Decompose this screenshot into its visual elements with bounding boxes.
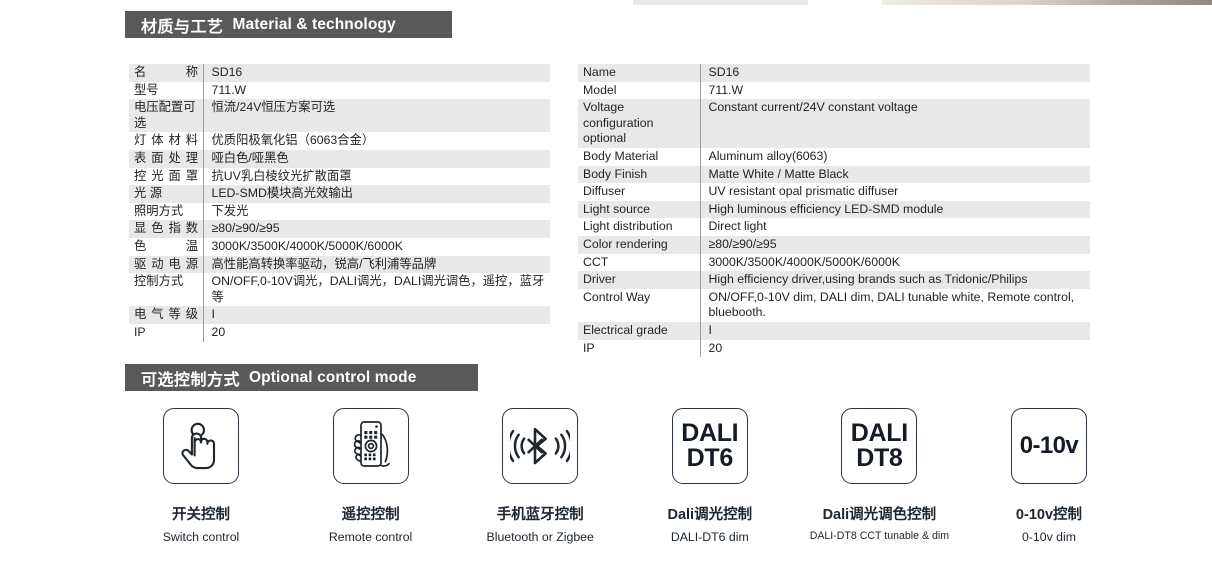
control-mode-label-cn: 开关控制 <box>172 503 230 524</box>
spec-key: Light distribution <box>578 218 700 236</box>
spec-key: 照明方式 <box>129 203 203 221</box>
table-row: Light distributionDirect light <box>578 218 1090 236</box>
spec-value: 20 <box>203 324 550 342</box>
table-row: 控 光 面 罩抗UV乳白棱纹光扩散面罩 <box>129 168 550 186</box>
dali-dt8-icon: DALIDT8 <box>851 421 908 471</box>
control-mode-label-en: Bluetooth or Zigbee <box>487 530 594 544</box>
spec-key: 表 面 处 理 <box>129 150 203 168</box>
spec-key: Name <box>578 64 700 82</box>
spec-value: 优质阳极氧化铝（6063合金） <box>203 132 550 150</box>
spec-key: Control Way <box>578 289 700 322</box>
section-header-control-en: Optional control mode <box>249 369 416 387</box>
control-mode-label-cn: Dali调光调色控制 <box>823 503 937 524</box>
spec-value: Aluminum alloy(6063) <box>700 148 1090 166</box>
table-row: Body FinishMatte White / Matte Black <box>578 166 1090 184</box>
control-mode-label-cn: 0-10v控制 <box>1016 503 1082 524</box>
remote-control-icon-box <box>333 408 409 484</box>
spec-key: 型号 <box>129 82 203 100</box>
spec-key: 控制方式 <box>129 273 203 306</box>
control-mode-label-en: Remote control <box>329 530 412 544</box>
bluetooth-wireless-icon-box <box>502 408 578 484</box>
spec-value: I <box>203 306 550 324</box>
spec-value: 3000K/3500K/4000K/5000K/6000K <box>203 238 550 256</box>
table-row: IP20 <box>129 324 550 342</box>
table-row: IP20 <box>578 340 1090 358</box>
control-mode-label-cn: 遥控控制 <box>342 503 400 524</box>
zero-to-ten-volt-icon: 0-10v <box>1020 432 1078 460</box>
spec-value: 20 <box>700 340 1090 358</box>
section-header-material-en: Material & technology <box>233 16 396 34</box>
spec-key: Color rendering <box>578 236 700 254</box>
spec-key: Body Material <box>578 148 700 166</box>
control-mode-list: 开关控制 Switch control <box>125 408 1125 544</box>
table-row: 型号711.W <box>129 82 550 100</box>
section-header-control: 可选控制方式 Optional control mode <box>125 364 478 391</box>
spec-value: ≥80/≥90/≥95 <box>700 236 1090 254</box>
spec-value: 抗UV乳白棱纹光扩散面罩 <box>203 168 550 186</box>
spec-value: Constant current/24V constant voltage <box>700 99 1090 148</box>
table-row: 驱 动 电 源高性能高转换率驱动，锐高/飞利浦等品牌 <box>129 256 550 274</box>
table-row: CCT3000K/3500K/4000K/5000K/6000K <box>578 254 1090 272</box>
control-mode-0-10v[interactable]: 0-10v 0-10v控制 0-10v dim <box>973 408 1125 544</box>
spec-value: 下发光 <box>203 203 550 221</box>
table-row: Light sourceHigh luminous efficiency LED… <box>578 201 1090 219</box>
spec-value: UV resistant opal prismatic diffuser <box>700 183 1090 201</box>
spec-value: ON/OFF,0-10V调光，DALI调光，DALI调光调色，遥控，蓝牙等 <box>203 273 550 306</box>
spec-value: High luminous efficiency LED-SMD module <box>700 201 1090 219</box>
table-row: 光 源LED-SMD模块高光效输出 <box>129 185 550 203</box>
spec-value: 711.W <box>203 82 550 100</box>
spec-table-chinese: 名 称SD16 型号711.W 电压配置可选恒流/24V恒压方案可选 灯 体 材… <box>129 64 550 342</box>
spec-value: SD16 <box>203 64 550 82</box>
control-mode-label-cn: 手机蓝牙控制 <box>497 503 584 524</box>
spec-table-english: NameSD16 Model711.W Voltage configuratio… <box>578 64 1090 357</box>
top-edge-strip-left <box>633 0 808 5</box>
spec-value: I <box>700 322 1090 340</box>
spec-value: Direct light <box>700 218 1090 236</box>
spec-key: 电 气 等 级 <box>129 306 203 324</box>
table-row: 名 称SD16 <box>129 64 550 82</box>
table-row: 控制方式ON/OFF,0-10V调光，DALI调光，DALI调光调色，遥控，蓝牙… <box>129 273 550 306</box>
table-row: Model711.W <box>578 82 1090 100</box>
spec-key: CCT <box>578 254 700 272</box>
spec-value: Matte White / Matte Black <box>700 166 1090 184</box>
spec-key: 灯 体 材 料 <box>129 132 203 150</box>
table-row: DiffuserUV resistant opal prismatic diff… <box>578 183 1090 201</box>
section-header-material-cn: 材质与工艺 <box>141 13 224 37</box>
spec-value: LED-SMD模块高光效输出 <box>203 185 550 203</box>
control-mode-label-en: 0-10v dim <box>1022 530 1076 544</box>
table-row: 显 色 指 数≥80/≥90/≥95 <box>129 220 550 238</box>
section-header-material: 材质与工艺 Material & technology <box>125 11 452 38</box>
section-header-control-cn: 可选控制方式 <box>141 366 240 390</box>
spec-key: 控 光 面 罩 <box>129 168 203 186</box>
table-row: 表 面 处 理哑白色/哑黑色 <box>129 150 550 168</box>
bluetooth-wireless-icon <box>510 425 570 467</box>
spec-key: 名 称 <box>129 64 203 82</box>
spec-value: 3000K/3500K/4000K/5000K/6000K <box>700 254 1090 272</box>
spec-key: IP <box>578 340 700 358</box>
spec-value: ≥80/≥90/≥95 <box>203 220 550 238</box>
table-row: 灯 体 材 料优质阳极氧化铝（6063合金） <box>129 132 550 150</box>
control-mode-switch[interactable]: 开关控制 Switch control <box>125 408 277 544</box>
hand-tap-icon <box>177 421 225 471</box>
table-row: Voltage configuration optionalConstant c… <box>578 99 1090 148</box>
table-row: NameSD16 <box>578 64 1090 82</box>
table-row: Color rendering≥80/≥90/≥95 <box>578 236 1090 254</box>
spec-key: Electrical grade <box>578 322 700 340</box>
spec-value: High efficiency driver,using brands such… <box>700 271 1090 289</box>
spec-key: Body Finish <box>578 166 700 184</box>
table-row: 电 气 等 级I <box>129 306 550 324</box>
spec-key: 电压配置可选 <box>129 99 203 132</box>
control-mode-dali-dt6[interactable]: DALIDT6 Dali调光控制 DALI-DT6 dim <box>634 408 786 544</box>
spec-key: 驱 动 电 源 <box>129 256 203 274</box>
dali-dt6-icon-box: DALIDT6 <box>672 408 748 484</box>
spec-key: Driver <box>578 271 700 289</box>
spec-key: 显 色 指 数 <box>129 220 203 238</box>
spec-value: SD16 <box>700 64 1090 82</box>
control-mode-bluetooth[interactable]: 手机蓝牙控制 Bluetooth or Zigbee <box>464 408 616 544</box>
spec-key: 光 源 <box>129 185 203 203</box>
spec-key: 色 温 <box>129 238 203 256</box>
table-row: Electrical gradeI <box>578 322 1090 340</box>
spec-value: 哑白色/哑黑色 <box>203 150 550 168</box>
zero-to-ten-volt-icon-box: 0-10v <box>1011 408 1087 484</box>
spec-value: 恒流/24V恒压方案可选 <box>203 99 550 132</box>
table-row: Body MaterialAluminum alloy(6063) <box>578 148 1090 166</box>
table-row: Control WayON/OFF,0-10V dim, DALI dim, D… <box>578 289 1090 322</box>
control-mode-label-en: DALI-DT8 CCT tunable & dim <box>810 530 949 542</box>
control-mode-label-en: DALI-DT6 dim <box>671 530 749 544</box>
spec-key: Voltage configuration optional <box>578 99 700 148</box>
control-mode-label-cn: Dali调光控制 <box>667 503 752 524</box>
spec-value: 711.W <box>700 82 1090 100</box>
table-row: 照明方式下发光 <box>129 203 550 221</box>
spec-table-chinese-body: 名 称SD16 型号711.W 电压配置可选恒流/24V恒压方案可选 灯 体 材… <box>129 64 550 342</box>
spec-value: 高性能高转换率驱动，锐高/飞利浦等品牌 <box>203 256 550 274</box>
table-row: 电压配置可选恒流/24V恒压方案可选 <box>129 99 550 132</box>
control-mode-label-en: Switch control <box>163 530 240 544</box>
spec-key: Light source <box>578 201 700 219</box>
table-row: 色 温3000K/3500K/4000K/5000K/6000K <box>129 238 550 256</box>
remote-control-icon <box>346 419 396 473</box>
dali-dt8-icon-box: DALIDT8 <box>841 408 917 484</box>
top-edge-strip-right <box>882 0 1212 5</box>
table-row: DriverHigh efficiency driver,using brand… <box>578 271 1090 289</box>
dali-dt6-icon: DALIDT6 <box>681 421 738 471</box>
spec-key: Model <box>578 82 700 100</box>
hand-tap-icon-box <box>163 408 239 484</box>
spec-key: IP <box>129 324 203 342</box>
spec-table-english-body: NameSD16 Model711.W Voltage configuratio… <box>578 64 1090 357</box>
control-mode-remote[interactable]: 遥控控制 Remote control <box>295 408 447 544</box>
spec-value: ON/OFF,0-10V dim, DALI dim, DALI tunable… <box>700 289 1090 322</box>
spec-key: Diffuser <box>578 183 700 201</box>
control-mode-dali-dt8[interactable]: DALIDT8 Dali调光调色控制 DALI-DT8 CCT tunable … <box>803 408 955 542</box>
